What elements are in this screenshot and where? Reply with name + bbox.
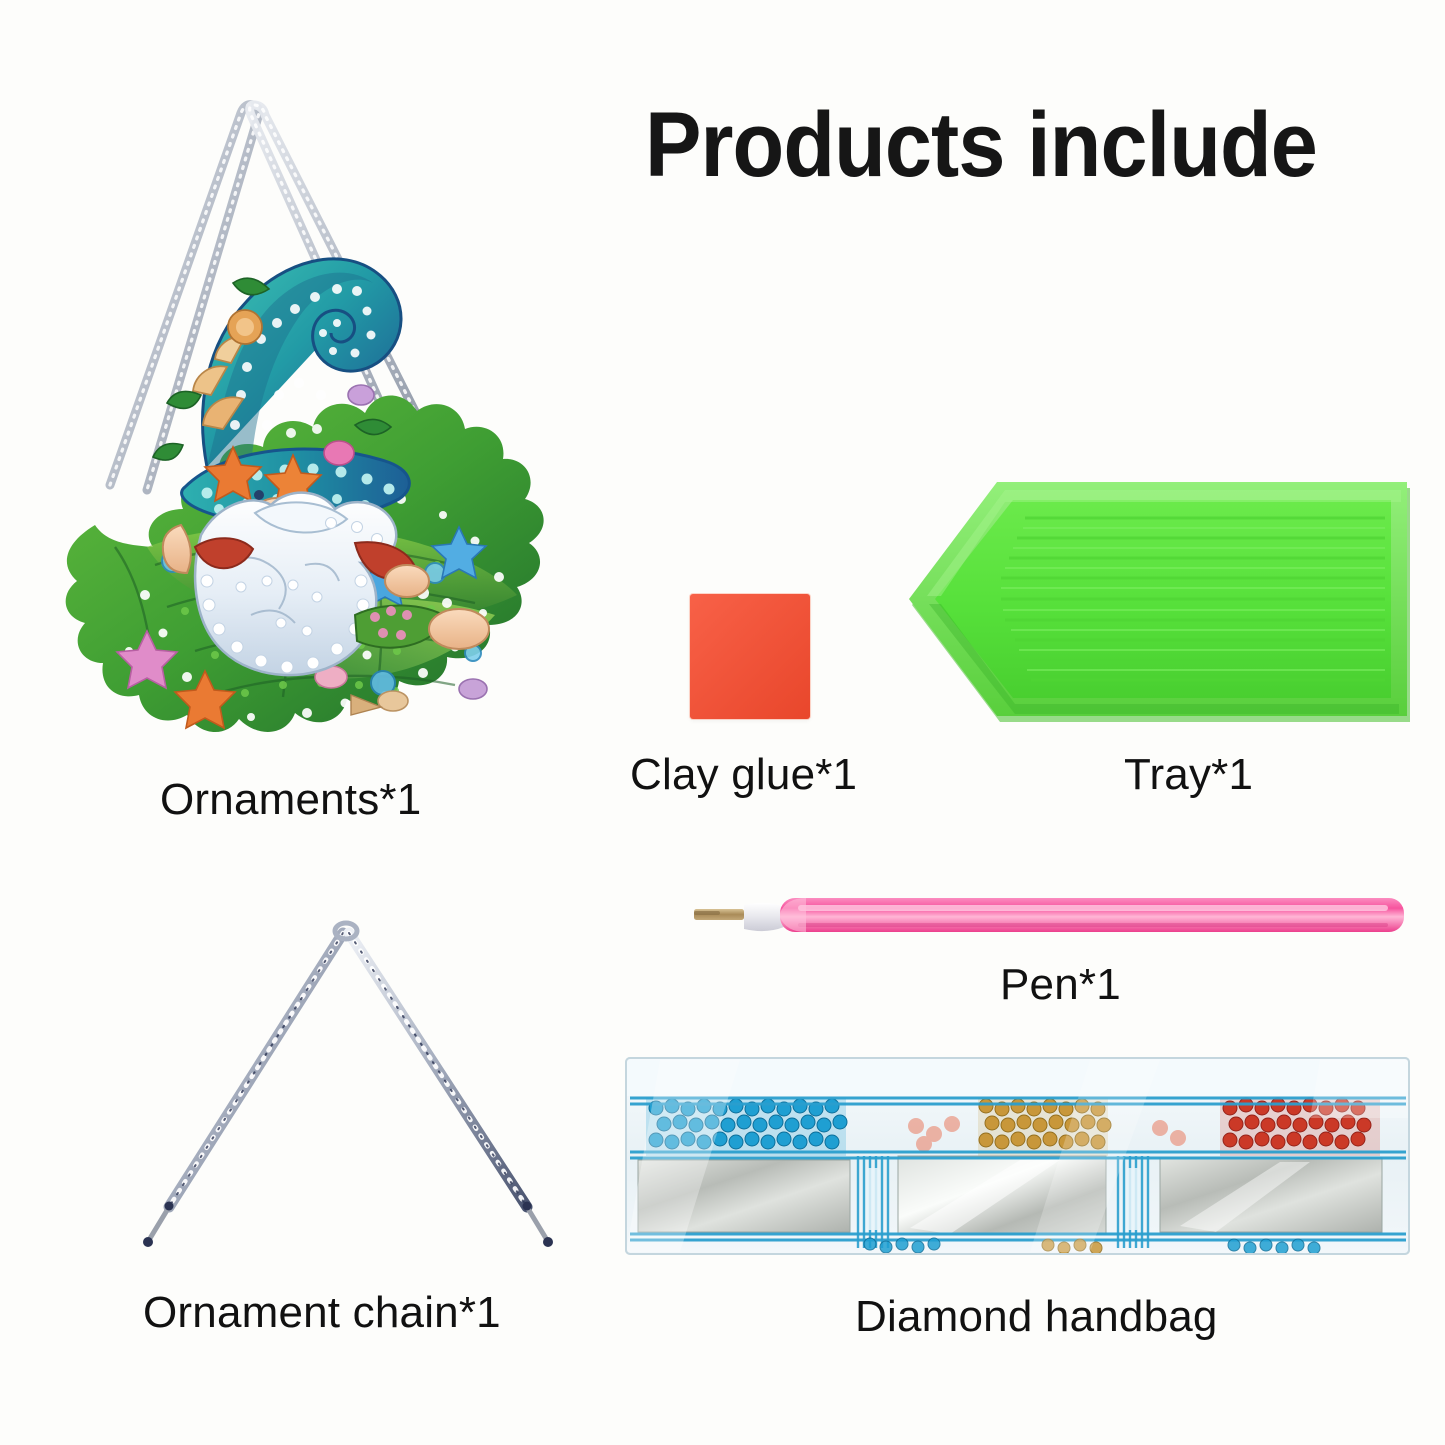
- clay-glue-label: Clay glue*1: [630, 750, 857, 800]
- tray-product: [905, 468, 1415, 730]
- ornament-product: [55, 95, 575, 745]
- ornaments-label: Ornaments*1: [160, 775, 421, 825]
- pen-label: Pen*1: [1000, 960, 1121, 1010]
- tray-label: Tray*1: [1124, 750, 1253, 800]
- clay-glue-square-icon: [690, 594, 810, 719]
- ornament-gnome-leaf-icon: [55, 95, 575, 745]
- drill-tray-icon: [905, 468, 1415, 730]
- product-include-infographic: Products include: [0, 0, 1445, 1445]
- chain-icon: [135, 915, 565, 1265]
- diamond-handbag-product: [620, 1048, 1415, 1273]
- diamond-handbag-label: Diamond handbag: [855, 1292, 1218, 1342]
- diamond-bag-icon: [620, 1048, 1415, 1273]
- gnome-hat: [153, 259, 409, 524]
- ornament-chain-product: [135, 915, 565, 1265]
- diamond-pen-icon: [688, 893, 1408, 941]
- ornament-chain-label: Ornament chain*1: [143, 1288, 501, 1338]
- pen-product: [688, 893, 1408, 941]
- page-title: Products include: [645, 95, 1381, 195]
